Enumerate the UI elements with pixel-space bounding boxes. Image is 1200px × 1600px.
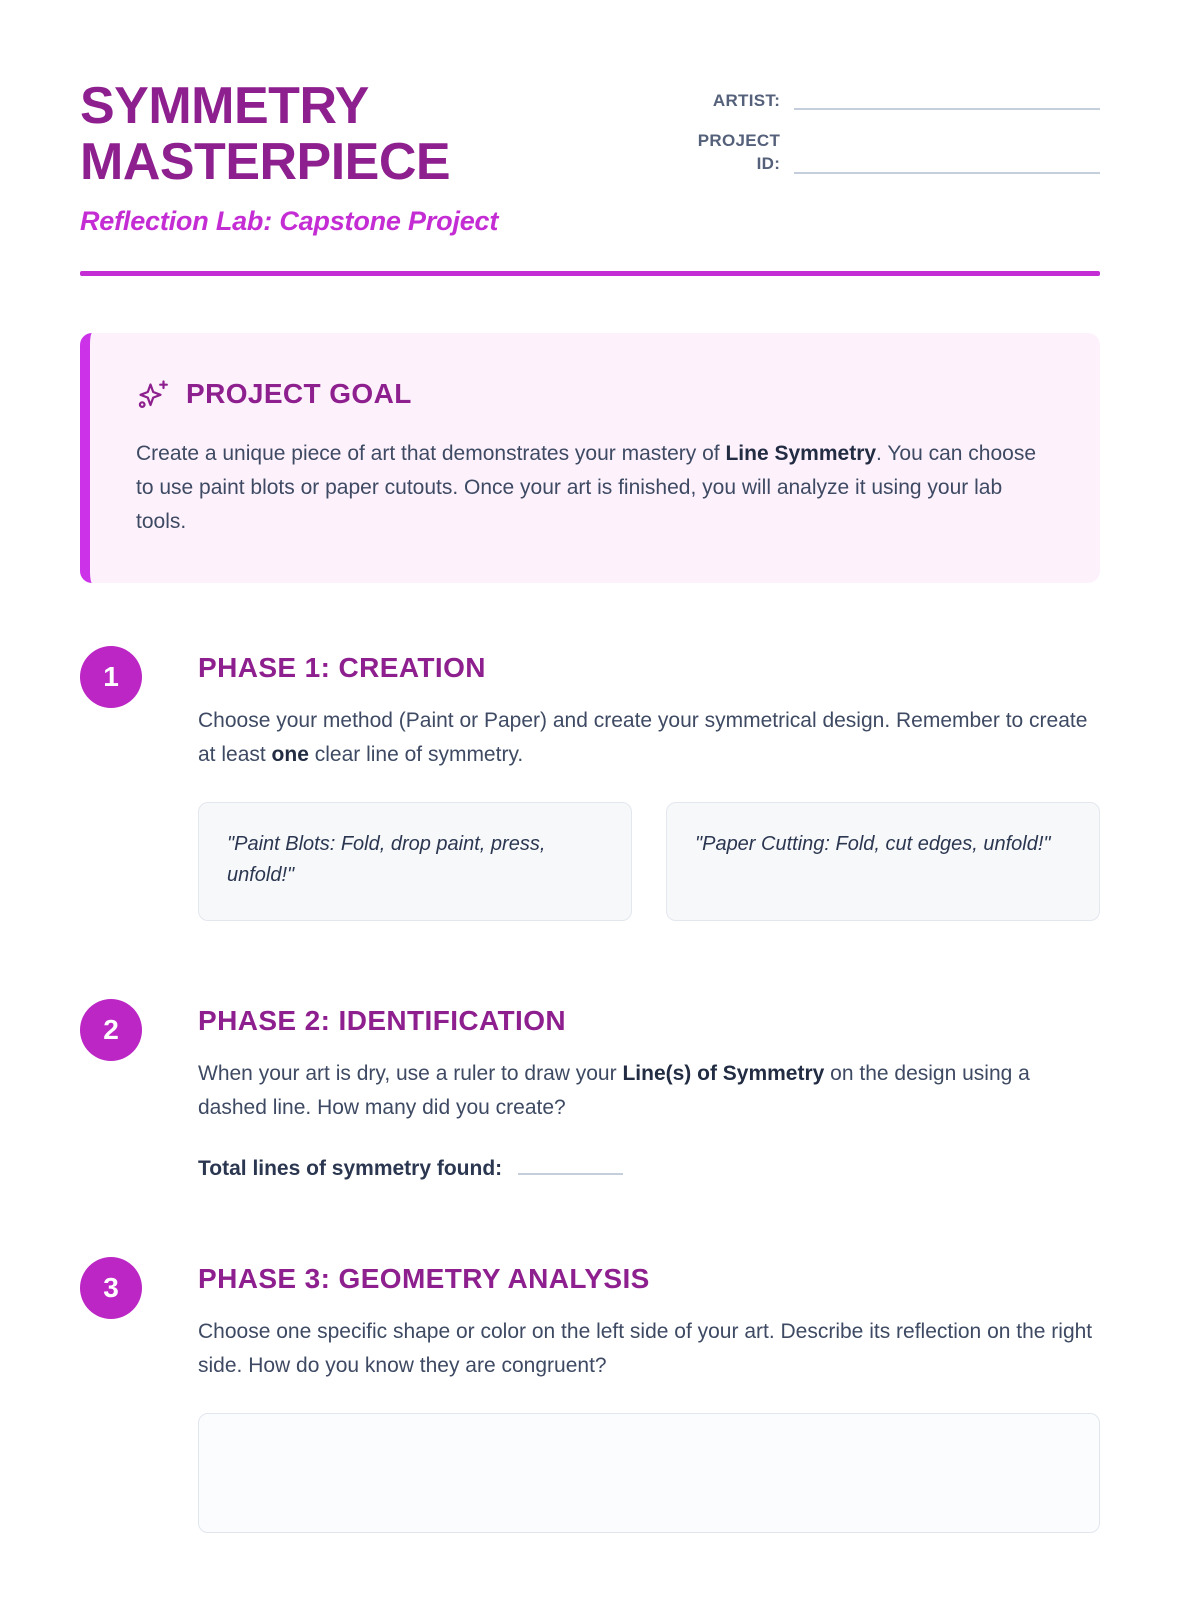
phase-1-title: PHASE 1: CREATION	[198, 652, 1100, 684]
phase-3-title: PHASE 3: GEOMETRY ANALYSIS	[198, 1263, 1100, 1295]
project-id-field-label: PROJECT ID:	[674, 130, 780, 177]
phase-2-answer-row: Total lines of symmetry found:	[198, 1157, 1100, 1181]
phase-1-body: PHASE 1: CREATION Choose your method (Pa…	[142, 643, 1100, 921]
worksheet-page: SYMMETRY MASTERPIECE Reflection Lab: Cap…	[0, 0, 1200, 1600]
phase-3-badge: 3	[80, 1257, 142, 1319]
project-goal-header: PROJECT GOAL	[136, 377, 1054, 411]
project-goal-text: Create a unique piece of art that demons…	[136, 437, 1054, 539]
phase-2-badge: 2	[80, 999, 142, 1061]
phase-1-section: 1 PHASE 1: CREATION Choose your method (…	[80, 643, 1100, 921]
phase-3-section: 3 PHASE 3: GEOMETRY ANALYSIS Choose one …	[80, 1254, 1100, 1533]
example-card-paper: "Paper Cutting: Fold, cut edges, unfold!…	[666, 802, 1100, 921]
phase-3-text: Choose one specific shape or color on th…	[198, 1315, 1100, 1383]
header-fields: ARTIST: PROJECT ID:	[674, 78, 1100, 193]
phase-2-answer-label: Total lines of symmetry found:	[198, 1157, 502, 1181]
goal-text-bold: Line Symmetry	[725, 442, 876, 465]
sparkles-icon	[136, 377, 170, 411]
goal-text-before: Create a unique piece of art that demons…	[136, 442, 725, 465]
phase-3-answer-box[interactable]	[198, 1413, 1100, 1533]
phase-1-text-bold: one	[272, 743, 309, 766]
project-id-field-row: PROJECT ID:	[674, 130, 1100, 177]
phase-2-text-before: When your art is dry, use a ruler to dra…	[198, 1062, 622, 1085]
phase-2-body: PHASE 2: IDENTIFICATION When your art is…	[142, 996, 1100, 1181]
project-id-input-line[interactable]	[794, 172, 1100, 174]
phase-2-text: When your art is dry, use a ruler to dra…	[198, 1057, 1100, 1125]
phase-3-body: PHASE 3: GEOMETRY ANALYSIS Choose one sp…	[142, 1254, 1100, 1533]
phase-1-text: Choose your method (Paint or Paper) and …	[198, 704, 1100, 772]
artist-field-row: ARTIST:	[674, 90, 1100, 114]
example-card-paper-text: "Paper Cutting: Fold, cut edges, unfold!…	[695, 829, 1071, 859]
phase-2-section: 2 PHASE 2: IDENTIFICATION When your art …	[80, 996, 1100, 1181]
header-title-block: SYMMETRY MASTERPIECE Reflection Lab: Cap…	[80, 78, 674, 237]
page-subtitle: Reflection Lab: Capstone Project	[80, 206, 674, 237]
phase-2-answer-input-line[interactable]	[518, 1173, 623, 1175]
page-header: SYMMETRY MASTERPIECE Reflection Lab: Cap…	[0, 0, 1200, 237]
phase-1-example-cards: "Paint Blots: Fold, drop paint, press, u…	[198, 802, 1100, 921]
phase-2-title: PHASE 2: IDENTIFICATION	[198, 1005, 1100, 1037]
phase-2-text-bold: Line(s) of Symmetry	[622, 1062, 824, 1085]
project-goal-callout: PROJECT GOAL Create a unique piece of ar…	[80, 333, 1100, 583]
artist-field-label: ARTIST:	[674, 90, 780, 114]
header-divider	[80, 271, 1100, 276]
phase-1-text-after: clear line of symmetry.	[309, 743, 523, 766]
page-title: SYMMETRY MASTERPIECE	[80, 78, 550, 190]
example-card-paint: "Paint Blots: Fold, drop paint, press, u…	[198, 802, 632, 921]
project-goal-title: PROJECT GOAL	[186, 378, 412, 410]
example-card-paint-text: "Paint Blots: Fold, drop paint, press, u…	[227, 829, 603, 890]
artist-input-line[interactable]	[794, 108, 1100, 110]
phase-1-badge: 1	[80, 646, 142, 708]
